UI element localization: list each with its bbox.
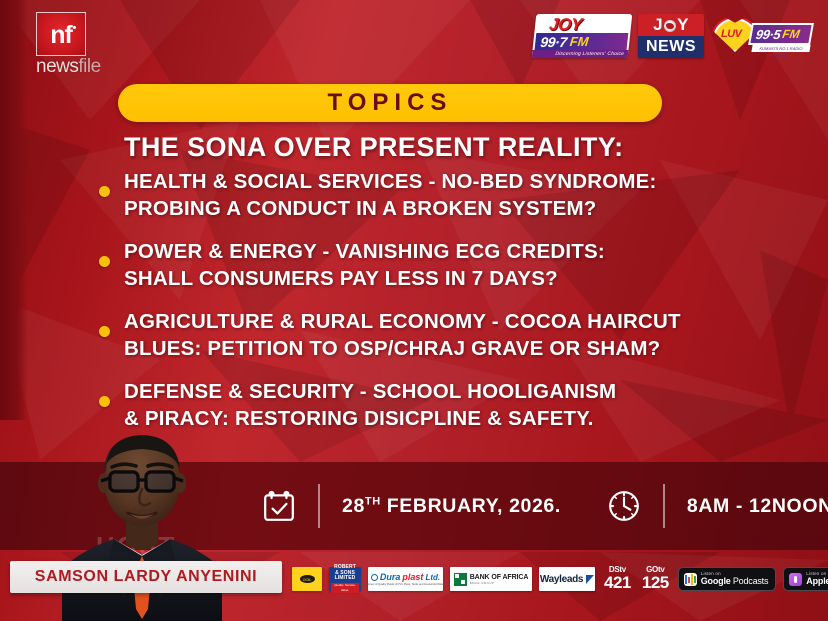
- clock-icon: [607, 489, 641, 523]
- topic-line-2: SHALL CONSUMERS PAY LESS IN 7 DAYS?: [124, 265, 796, 292]
- topic-line-1: POWER & ENERGY - VANISHING ECG CREDITS:: [124, 238, 796, 265]
- robert-line-3: LIMITED: [335, 576, 356, 582]
- topics-banner: TOPICS: [118, 84, 662, 122]
- divider: [318, 484, 320, 528]
- bank-of-africa-name: BANK OF AFRICA: [470, 574, 529, 581]
- google-podcasts-name: Google Podcasts: [701, 577, 769, 586]
- joy-fm-band: FM: [566, 34, 589, 49]
- joy-fm-logo[interactable]: JOY 99·7 FM Discerning Listeners' Choice: [532, 14, 633, 58]
- event-date-ordinal: TH: [365, 495, 381, 507]
- list-item: HEALTH & SOCIAL SERVICES - NO-BED SYNDRO…: [96, 168, 796, 222]
- wayleads-label: Wayleads: [540, 574, 583, 585]
- newsfile-topics-poster: nf newsfile JOY 99·7 FM Discerning Liste…: [0, 0, 828, 621]
- newsfile-word-news: news: [36, 56, 78, 77]
- schedule-row: 28TH FEBRUARY, 2026. 8AM - 12NOON: [262, 478, 828, 534]
- station-logo-group: JOY 99·7 FM Discerning Listeners' Choice…: [534, 14, 812, 58]
- bullet-dot-icon: [99, 326, 110, 337]
- host-name: SAMSON LARDY ANYENINI: [35, 568, 257, 586]
- dstv-channel-number: 421: [604, 574, 631, 592]
- page-title: THE SONA OVER PRESENT REALITY:: [124, 132, 774, 163]
- topic-line-1: DEFENSE & SECURITY - SCHOOL HOOLIGANISM: [124, 378, 796, 405]
- luv-fm-frequency: 99·5: [751, 27, 782, 42]
- google-podcasts-icon: [684, 573, 697, 586]
- topic-line-1: AGRICULTURE & RURAL ECONOMY - COCOA HAIR…: [124, 308, 796, 335]
- joy-news-bottom: NEWS: [638, 36, 704, 58]
- bank-of-africa-text: BANK OF AFRICA BMCE GROUP: [470, 574, 529, 585]
- globe-icon: [664, 20, 676, 32]
- apple-podcasts-icon: [789, 573, 802, 586]
- topic-line-2: & PIRACY: RESTORING DISICPLINE & SAFETY.: [124, 405, 796, 432]
- google-podcasts-text: Listen on Google Podcasts: [701, 572, 769, 586]
- list-item: AGRICULTURE & RURAL ECONOMY - COCOA HAIR…: [96, 308, 796, 362]
- duraplast-wordmark: Dura plast Ltd.: [371, 572, 440, 582]
- joy-news-y: Y: [677, 15, 689, 35]
- joy-news-logo[interactable]: J Y NEWS: [638, 14, 704, 58]
- duraplast-strapline: Manufacturers of Quality Plastic & PVC P…: [358, 583, 453, 586]
- newsfile-logo[interactable]: nf newsfile: [36, 12, 88, 76]
- channel-badge-dstv: DStv 421: [604, 566, 631, 592]
- joy-news-top: J Y: [638, 14, 704, 36]
- divider: [663, 484, 665, 528]
- google-podcasts-suffix: Podcasts: [731, 576, 769, 586]
- poster-header: nf newsfile JOY 99·7 FM Discerning Liste…: [0, 0, 828, 78]
- event-date: 28TH FEBRUARY, 2026.: [342, 495, 561, 518]
- joy-fm-freq-bar: 99·7 FM: [535, 33, 629, 50]
- joy-fm-frequency: 99·7: [535, 34, 568, 50]
- sponsor-logo-duraplast[interactable]: Dura plast Ltd. Manufacturers of Quality…: [368, 567, 443, 591]
- joy-fm-tagline: Discerning Listeners' Choice: [532, 50, 629, 58]
- sponsor-logo-robert-and-sons[interactable]: ROBERT & SONS LIMITED Quality. Service. …: [329, 567, 361, 591]
- ghana-oil-label: GOIL: [300, 575, 315, 583]
- event-date-rest: FEBRUARY, 2026.: [381, 495, 561, 517]
- duraplast-ltd: Ltd.: [425, 573, 440, 582]
- luv-fm-freq-bar: 99·5 FM: [748, 23, 814, 45]
- ring-icon: [371, 574, 378, 581]
- luv-fm-logo[interactable]: LUV 99·5 FM KUMASI'S NO.1 RADIO STATION: [712, 14, 812, 58]
- newsfile-logo-dot: [73, 26, 76, 29]
- apple-podcasts-name: Apple Podcasts: [806, 577, 828, 586]
- bullet-dot-icon: [99, 396, 110, 407]
- topic-list: HEALTH & SOCIAL SERVICES - NO-BED SYNDRO…: [96, 168, 796, 448]
- sponsor-logo-bank-of-africa[interactable]: BANK OF AFRICA BMCE GROUP: [450, 567, 532, 591]
- event-date-day: 28: [342, 495, 365, 517]
- list-item: POWER & ENERGY - VANISHING ECG CREDITS: …: [96, 238, 796, 292]
- gotv-channel-number: 125: [642, 574, 669, 592]
- bullet-dot-icon: [99, 256, 110, 267]
- sponsor-strip: GOIL ROBERT & SONS LIMITED Quality. Serv…: [292, 566, 828, 592]
- apple-podcasts-brand: Apple: [806, 576, 828, 586]
- luv-fm-tagline: KUMASI'S NO.1 RADIO STATION: [751, 45, 810, 52]
- channel-badge-gotv: GOtv 125: [642, 566, 669, 592]
- topic-line-1: HEALTH & SOCIAL SERVICES - NO-BED SYNDRO…: [124, 168, 796, 195]
- bank-of-africa-group: BMCE GROUP: [470, 581, 529, 585]
- sponsor-logo-ghana-oil[interactable]: GOIL: [292, 567, 322, 591]
- wayleads-triangle-icon: [586, 575, 594, 584]
- google-podcasts-badge[interactable]: Listen on Google Podcasts: [678, 567, 777, 591]
- topic-line-2: PROBING A CONDUCT IN A BROKEN SYSTEM?: [124, 195, 796, 222]
- topics-banner-label: TOPICS: [328, 89, 453, 117]
- duraplast-dura: Dura: [380, 572, 401, 582]
- host-name-plate: SAMSON LARDY ANYENINI: [10, 561, 282, 593]
- joy-news-j: J: [653, 15, 663, 35]
- event-time: 8AM - 12NOON: [687, 495, 828, 518]
- joy-fm-name: JOY: [548, 15, 583, 35]
- bullet-dot-icon: [99, 186, 110, 197]
- luv-fm-band: FM: [779, 27, 801, 41]
- calendar-icon: [262, 489, 296, 523]
- newsfile-logo-initials: nf: [50, 23, 72, 48]
- newsfile-logo-mark: nf: [36, 12, 86, 56]
- robert-strapline: Quality. Service. Value.: [331, 583, 359, 593]
- apple-podcasts-text: Listen on Apple Podcasts: [806, 572, 828, 586]
- duraplast-plast: plast: [402, 572, 423, 582]
- topic-line-2: BLUES: PETITION TO OSP/CHRAJ GRAVE OR SH…: [124, 335, 796, 362]
- sponsor-logo-wayleads[interactable]: Wayleads: [539, 567, 595, 591]
- apple-podcasts-badge[interactable]: Listen on Apple Podcasts: [783, 567, 828, 591]
- newsfile-word-file: file: [78, 56, 100, 77]
- newsfile-logo-wordmark: newsfile: [36, 57, 88, 77]
- luv-fm-name: LUV: [721, 28, 742, 40]
- bank-of-africa-mark-icon: [454, 573, 467, 586]
- google-podcasts-brand: Google: [701, 576, 731, 586]
